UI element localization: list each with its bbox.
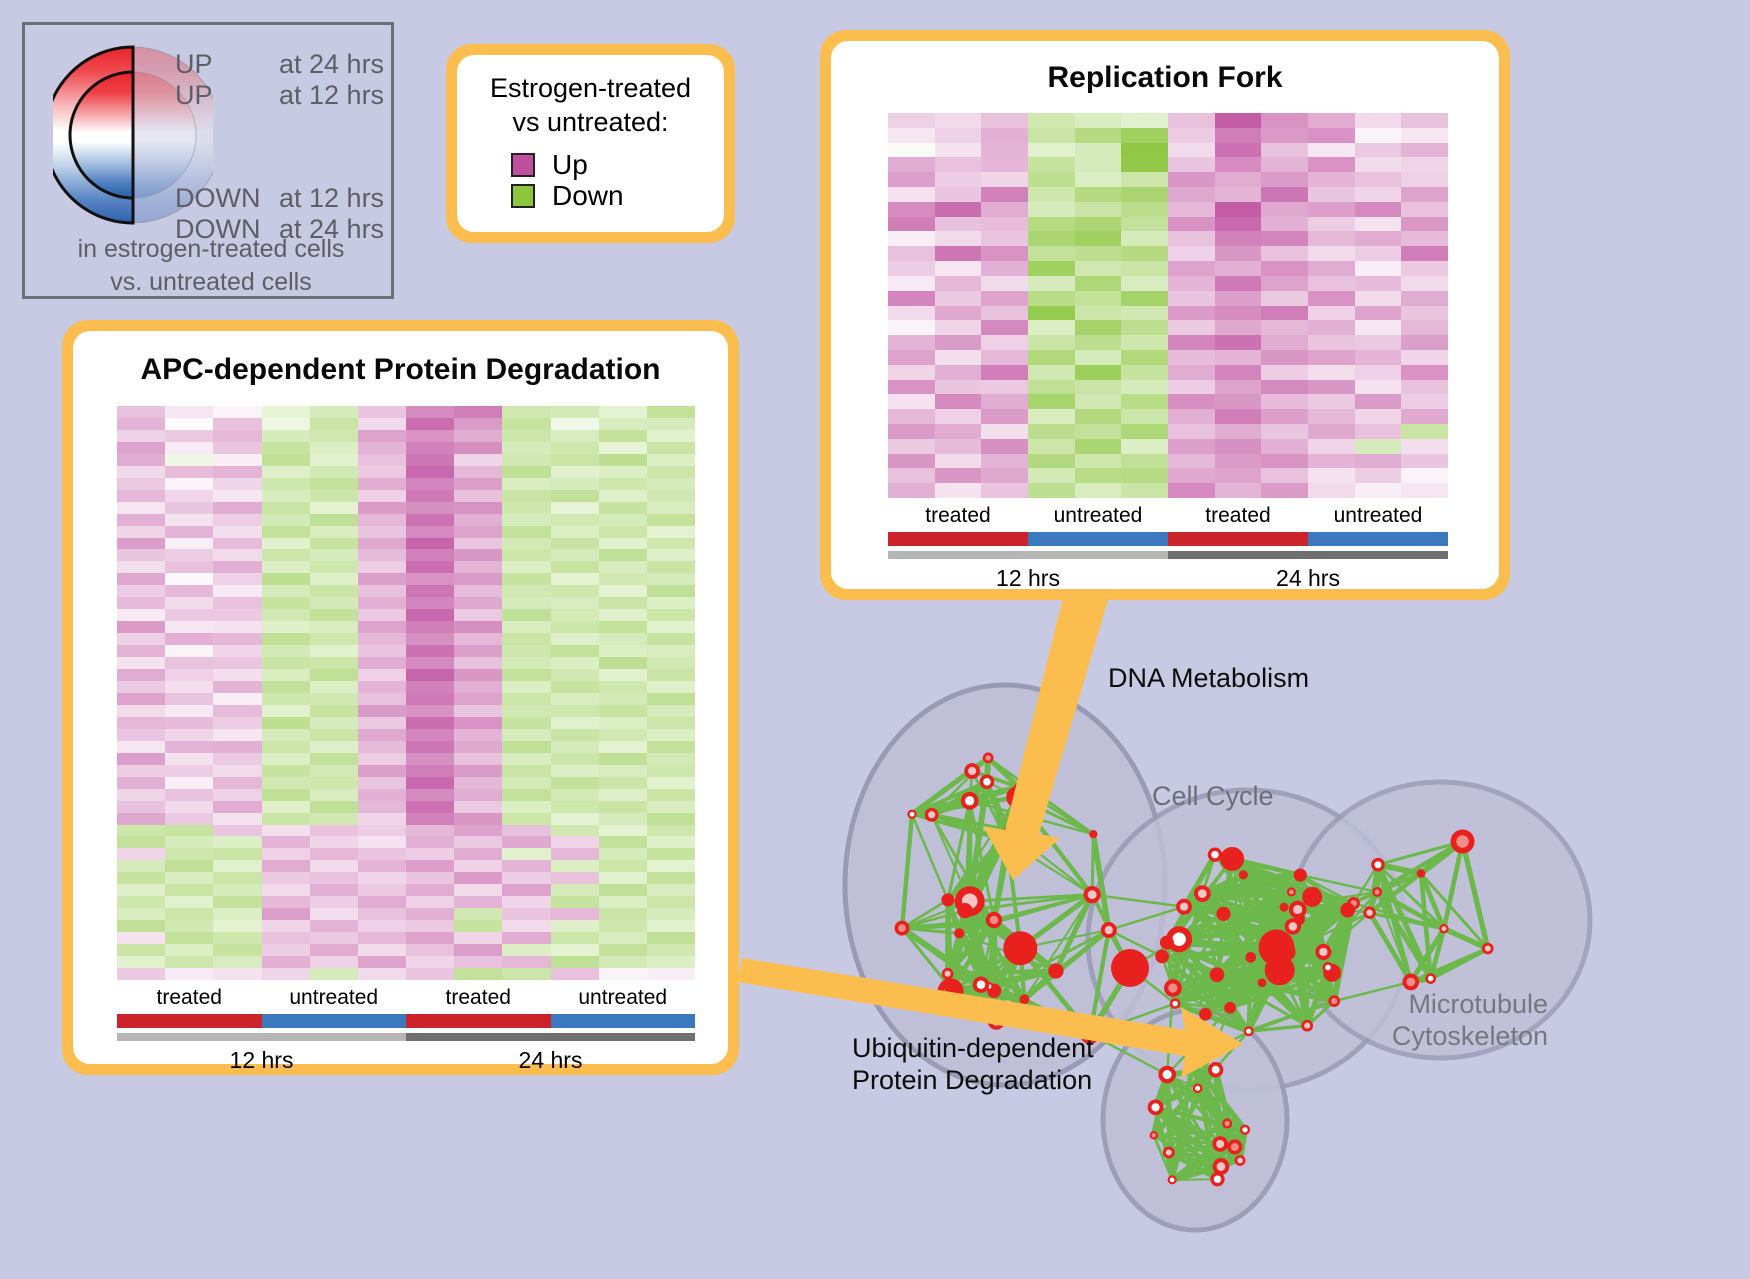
heatmap-cell: [213, 466, 261, 478]
network-node[interactable]: [1285, 918, 1301, 934]
network-node[interactable]: [957, 903, 972, 918]
heatmap-cell: [551, 753, 599, 765]
heatmap-cell: [981, 306, 1028, 321]
heatmap-cell: [935, 365, 982, 380]
heatmap-cell: [647, 860, 695, 872]
heatmap-cell: [981, 454, 1028, 469]
heatmap-cell: [599, 502, 647, 514]
network-node[interactable]: [1163, 1147, 1175, 1159]
node-outer-ring: [1340, 903, 1355, 918]
network-node[interactable]: [1111, 949, 1149, 987]
network-node[interactable]: [1222, 1118, 1232, 1128]
heatmap-cell: [647, 526, 695, 538]
heatmap-cell: [213, 418, 261, 430]
node-inner-fill: [1172, 932, 1186, 946]
heatmap-cell: [502, 430, 550, 442]
heatmap-cell: [502, 765, 550, 777]
heatmap-cell: [117, 753, 165, 765]
heatmap-cell: [1168, 306, 1215, 321]
network-node[interactable]: [1287, 887, 1296, 896]
network-node[interactable]: [1245, 952, 1256, 963]
key-title-line2: vs untreated:: [457, 105, 724, 139]
heatmap-cell: [1075, 187, 1122, 202]
heatmap-cell: [935, 380, 982, 395]
heatmap-cell: [1168, 483, 1215, 498]
heatmap-cell: [1261, 320, 1308, 335]
node-outer-ring: [1302, 887, 1322, 907]
heatmap-cell: [1215, 128, 1262, 143]
heatmap-cell: [213, 549, 261, 561]
node-inner-fill: [1198, 889, 1207, 898]
heatmap-cell: [502, 561, 550, 573]
heatmap-cell: [213, 573, 261, 585]
node-inner-fill: [1406, 978, 1415, 987]
heatmap-cell: [599, 693, 647, 705]
node-inner-fill: [1237, 1158, 1243, 1164]
heatmap-cell: [406, 717, 454, 729]
heatmap-cell: [117, 884, 165, 896]
network-node[interactable]: [1193, 1083, 1203, 1093]
heatmap-cell: [310, 502, 358, 514]
heatmap-cell: [1168, 261, 1215, 276]
network-node[interactable]: [1158, 1066, 1176, 1084]
heatmap-cell: [551, 801, 599, 813]
heatmap-cell: [599, 478, 647, 490]
network-node[interactable]: [925, 808, 939, 822]
network-node[interactable]: [1213, 1158, 1230, 1175]
network-node[interactable]: [1363, 907, 1375, 919]
network-node[interactable]: [1164, 979, 1182, 997]
network-node[interactable]: [1194, 885, 1211, 902]
group-label-treated-24: treated: [406, 986, 551, 1010]
node-inner-fill: [1216, 1140, 1224, 1148]
network-node[interactable]: [1294, 868, 1307, 881]
heatmap-cell: [310, 944, 358, 956]
heatmap-cell: [406, 561, 454, 573]
heatmap-cell: [358, 454, 406, 466]
network-node[interactable]: [1168, 1175, 1177, 1184]
heatmap-cell: [117, 896, 165, 908]
heatmap-cell: [117, 825, 165, 837]
heatmap-cell: [406, 741, 454, 753]
network-node[interactable]: [1227, 1139, 1242, 1154]
heatmap-cell: [310, 597, 358, 609]
heatmap-cell: [599, 729, 647, 741]
group-label-treated-12: treated: [888, 504, 1028, 528]
network-node[interactable]: [944, 982, 960, 998]
heatmap-cell: [1401, 439, 1448, 454]
heatmap-cell: [981, 394, 1028, 409]
heatmap-cell: [1261, 483, 1308, 498]
heatmap-cell: [1355, 320, 1402, 335]
heatmap-cell: [117, 681, 165, 693]
heatmap-cell: [1075, 276, 1122, 291]
node-outer-ring: [1245, 952, 1256, 963]
network-node[interactable]: [1155, 950, 1169, 964]
heatmap-cell: [310, 801, 358, 813]
heatmap-cell: [1028, 483, 1075, 498]
heatmap-cell: [935, 291, 982, 306]
heatmap-cell: [117, 717, 165, 729]
heatmap-cell: [310, 848, 358, 860]
heatmap-cell: [1028, 291, 1075, 306]
heatmap-cell: [454, 657, 502, 669]
heatmap-cell: [888, 202, 935, 217]
heatmap-cell: [551, 872, 599, 884]
network-node[interactable]: [1003, 931, 1037, 965]
network-node[interactable]: [973, 976, 989, 992]
heatmap-cell: [454, 872, 502, 884]
heatmap-cell: [213, 609, 261, 621]
heatmap-cell: [454, 693, 502, 705]
network-node[interactable]: [1170, 998, 1181, 1009]
heatmap-cell: [358, 645, 406, 657]
network-node[interactable]: [1150, 1131, 1158, 1139]
network-node[interactable]: [983, 753, 994, 764]
heatmap-cell: [1121, 335, 1168, 350]
heatmap-cell: [935, 187, 982, 202]
heatmap-cell: [981, 246, 1028, 261]
heatmap-cell: [935, 424, 982, 439]
heatmap-cell: [358, 585, 406, 597]
heatmap-cell: [213, 657, 261, 669]
heatmap-cell: [358, 538, 406, 550]
network-node[interactable]: [1216, 907, 1230, 921]
heatmap-cell: [358, 418, 406, 430]
heatmap-cell: [1308, 468, 1355, 483]
legend-footer: in estrogen-treated cells vs. untreated …: [25, 233, 397, 299]
heatmap-cell: [1308, 409, 1355, 424]
network-node[interactable]: [954, 928, 964, 938]
heatmap-cell: [165, 442, 213, 454]
network-node[interactable]: [1240, 1125, 1250, 1135]
heatmap-cell: [647, 765, 695, 777]
heatmap-cell: [888, 128, 935, 143]
heatmap-cell: [888, 113, 935, 128]
heatmap-cell: [1261, 276, 1308, 291]
heatmap-cell: [117, 621, 165, 633]
network-node[interactable]: [1280, 903, 1289, 912]
heatmap-cell: [647, 466, 695, 478]
heatmap-cell: [1215, 320, 1262, 335]
network-node[interactable]: [1301, 1020, 1313, 1032]
heatmap-cell: [1168, 276, 1215, 291]
heatmap-cell: [1121, 231, 1168, 246]
apc-degradation-heatmap: [117, 406, 695, 980]
heatmap-cell: [1401, 483, 1448, 498]
network-node[interactable]: [1371, 858, 1385, 872]
legend-key: DOWN: [175, 185, 279, 212]
legend-value: at 12 hrs: [279, 82, 384, 109]
heatmap-cell: [551, 645, 599, 657]
network-node[interactable]: [1199, 1008, 1212, 1021]
network-node[interactable]: [986, 912, 1002, 928]
network-node[interactable]: [1425, 973, 1436, 984]
heatmap-cell: [1028, 468, 1075, 483]
heatmap-cell: [1028, 157, 1075, 172]
network-node[interactable]: [1101, 922, 1117, 938]
heatmap-cell: [888, 291, 935, 306]
network-node[interactable]: [895, 921, 910, 936]
heatmap-cell: [1028, 246, 1075, 261]
heatmap-cell: [502, 669, 550, 681]
network-node[interactable]: [1208, 847, 1222, 861]
heatmap-cell: [406, 430, 454, 442]
network-node[interactable]: [1372, 887, 1382, 897]
network-node[interactable]: [1239, 870, 1248, 879]
node-outer-ring: [1048, 963, 1063, 978]
network-node[interactable]: [1019, 994, 1029, 1004]
network-node[interactable]: [1482, 943, 1494, 955]
heatmap-cell: [406, 526, 454, 538]
network-node[interactable]: [1220, 847, 1244, 871]
heatmap-cell: [117, 860, 165, 872]
heatmap-cell: [1168, 157, 1215, 172]
heatmap-cell: [117, 908, 165, 920]
heatmap-cell: [310, 442, 358, 454]
heatmap-cell: [647, 884, 695, 896]
heatmap-cell: [454, 836, 502, 848]
heatmap-cell: [1308, 380, 1355, 395]
network-node[interactable]: [1278, 943, 1295, 960]
heatmap-cell: [1355, 291, 1402, 306]
heatmap-cell: [1308, 202, 1355, 217]
heatmap-cell: [551, 538, 599, 550]
heatmap-cell: [262, 717, 310, 729]
heatmap-cell: [888, 439, 935, 454]
heatmap-cell: [647, 633, 695, 645]
heatmap-cell: [358, 848, 406, 860]
heatmap-cell: [888, 454, 935, 469]
network-node[interactable]: [1186, 1056, 1199, 1069]
heatmap-cell: [117, 765, 165, 777]
network-node[interactable]: [1302, 887, 1322, 907]
heatmap-cell: [1308, 454, 1355, 469]
heatmap-cell: [454, 681, 502, 693]
network-node[interactable]: [987, 1012, 1005, 1030]
heatmap-cell: [1028, 172, 1075, 187]
heatmap-cell: [599, 777, 647, 789]
heatmap-cell: [1308, 172, 1355, 187]
heatmap-cell: [213, 872, 261, 884]
heatmap-cell: [213, 777, 261, 789]
heatmap-cell: [1401, 128, 1448, 143]
heatmap-cell: [647, 657, 695, 669]
network-node[interactable]: [1014, 783, 1023, 792]
heatmap-cell: [117, 729, 165, 741]
color-wheel-label-list: UP at 24 hrs UP at 12 hrs DOWN at 12 hrs…: [175, 51, 390, 243]
heatmap-cell: [935, 409, 982, 424]
network-node[interactable]: [998, 832, 1016, 850]
heatmap-cell: [310, 657, 358, 669]
heatmap-cell: [262, 741, 310, 753]
network-node[interactable]: [1451, 829, 1475, 853]
heatmap-cell: [1168, 424, 1215, 439]
replication-fork-group-labels: treated untreated treated untreated: [888, 504, 1448, 528]
network-node[interactable]: [1323, 962, 1334, 973]
heatmap-cell: [1308, 365, 1355, 380]
heatmap-cell: [551, 741, 599, 753]
network-node[interactable]: [961, 792, 979, 810]
heatmap-cell: [599, 549, 647, 561]
heatmap-cell: [1308, 187, 1355, 202]
heatmap-cell: [165, 633, 213, 645]
heatmap-cell: [117, 789, 165, 801]
network-node[interactable]: [980, 774, 995, 789]
node-inner-fill: [1374, 861, 1381, 868]
heatmap-cell: [358, 908, 406, 920]
heatmap-cell: [647, 538, 695, 550]
network-node[interactable]: [942, 968, 954, 980]
heatmap-cell: [165, 514, 213, 526]
heatmap-cell: [1308, 483, 1355, 498]
heatmap-cell: [406, 609, 454, 621]
network-node[interactable]: [1208, 1062, 1223, 1077]
heatmap-cell: [213, 502, 261, 514]
heatmap-cell: [599, 872, 647, 884]
node-outer-ring: [1280, 903, 1289, 912]
heatmap-cell: [1168, 143, 1215, 158]
heatmap-cell: [1401, 454, 1448, 469]
heatmap-cell: [165, 478, 213, 490]
heatmap-cell: [1121, 306, 1168, 321]
heatmap-cell: [1401, 157, 1448, 172]
heatmap-cell: [406, 872, 454, 884]
heatmap-cell: [117, 693, 165, 705]
heatmap-cell: [1355, 335, 1402, 350]
heatmap-cell: [502, 956, 550, 968]
heatmap-cell: [1028, 350, 1075, 365]
heatmap-cell: [310, 968, 358, 980]
heatmap-cell: [502, 920, 550, 932]
heatmap-cell: [213, 789, 261, 801]
heatmap-cell: [1075, 439, 1122, 454]
heatmap-cell: [647, 549, 695, 561]
heatmap-cell: [358, 549, 406, 561]
network-node[interactable]: [1148, 1099, 1164, 1115]
network-node[interactable]: [964, 763, 980, 779]
heatmap-cell: [1215, 350, 1262, 365]
node-outer-ring: [954, 928, 964, 938]
heatmap-cell: [358, 490, 406, 502]
network-node[interactable]: [1244, 1026, 1254, 1036]
heatmap-cell: [935, 246, 982, 261]
network-node[interactable]: [1417, 869, 1426, 878]
heatmap-cell: [1215, 113, 1262, 128]
heatmap-cell: [599, 944, 647, 956]
heatmap-cell: [262, 657, 310, 669]
network-node[interactable]: [1048, 963, 1063, 978]
heatmap-cell: [358, 765, 406, 777]
heatmap-cell: [1355, 394, 1402, 409]
apc-group-labels: treated untreated treated untreated: [117, 986, 695, 1010]
heatmap-cell: [358, 729, 406, 741]
heatmap-cell: [165, 741, 213, 753]
network-node[interactable]: [1210, 967, 1225, 982]
network-node[interactable]: [1235, 1155, 1246, 1166]
heatmap-cell: [1215, 157, 1262, 172]
cluster-label-dna-metabolism: DNA Metabolism: [1108, 662, 1309, 694]
heatmap-cell: [1355, 409, 1402, 424]
heatmap-cell: [1355, 261, 1402, 276]
heatmap-cell: [310, 490, 358, 502]
heatmap-cell: [599, 741, 647, 753]
heatmap-cell: [551, 466, 599, 478]
network-node[interactable]: [1439, 924, 1448, 933]
heatmap-cell: [1215, 380, 1262, 395]
heatmap-cell: [406, 813, 454, 825]
heatmap-cell: [551, 490, 599, 502]
network-node[interactable]: [1328, 995, 1340, 1007]
heatmap-cell: [310, 813, 358, 825]
heatmap-cell: [599, 825, 647, 837]
network-node[interactable]: [1315, 944, 1331, 960]
network-node[interactable]: [1176, 899, 1192, 915]
heatmap-cell: [1261, 261, 1308, 276]
node-inner-fill: [1016, 785, 1021, 790]
heatmap-cell: [599, 789, 647, 801]
heatmap-cell: [262, 633, 310, 645]
heatmap-cell: [358, 633, 406, 645]
network-node[interactable]: [1089, 830, 1097, 838]
heatmap-cell: [888, 187, 935, 202]
heatmap-cell: [213, 884, 261, 896]
heatmap-cell: [213, 669, 261, 681]
heatmap-cell: [454, 466, 502, 478]
node-inner-fill: [1166, 1149, 1172, 1155]
heatmap-cell: [117, 597, 165, 609]
heatmap-cell: [165, 430, 213, 442]
heatmap-cell: [981, 217, 1028, 232]
heatmap-cell: [117, 430, 165, 442]
network-node[interactable]: [941, 893, 954, 906]
heatmap-cell: [165, 657, 213, 669]
heatmap-cell: [599, 561, 647, 573]
heatmap-cell: [888, 350, 935, 365]
heatmap-cell: [406, 836, 454, 848]
node-inner-fill: [1375, 889, 1380, 894]
heatmap-cell: [599, 908, 647, 920]
network-node[interactable]: [1212, 1136, 1228, 1152]
heatmap-cell: [502, 753, 550, 765]
heatmap-cell: [262, 645, 310, 657]
heatmap-cell: [358, 813, 406, 825]
apc-time-bar: [117, 1033, 695, 1041]
heatmap-cell: [1168, 113, 1215, 128]
network-node[interactable]: [1340, 903, 1355, 918]
heatmap-cell: [165, 825, 213, 837]
heatmap-cell: [213, 693, 261, 705]
heatmap-cell: [117, 872, 165, 884]
heatmap-cell: [647, 729, 695, 741]
network-node[interactable]: [907, 810, 916, 819]
heatmap-cell: [1121, 246, 1168, 261]
heatmap-cell: [647, 585, 695, 597]
network-node[interactable]: [1160, 936, 1174, 950]
heatmap-cell: [262, 813, 310, 825]
network-node[interactable]: [1224, 1002, 1236, 1014]
network-node[interactable]: [1258, 978, 1267, 987]
heatmap-cell: [454, 932, 502, 944]
heatmap-cell: [454, 848, 502, 860]
heatmap-cell: [454, 490, 502, 502]
network-node[interactable]: [1084, 886, 1101, 903]
heatmap-cell: [1168, 231, 1215, 246]
heatmap-cell: [406, 454, 454, 466]
heatmap-cell: [1355, 172, 1402, 187]
heatmap-cell: [1215, 246, 1262, 261]
heatmap-cell: [551, 478, 599, 490]
